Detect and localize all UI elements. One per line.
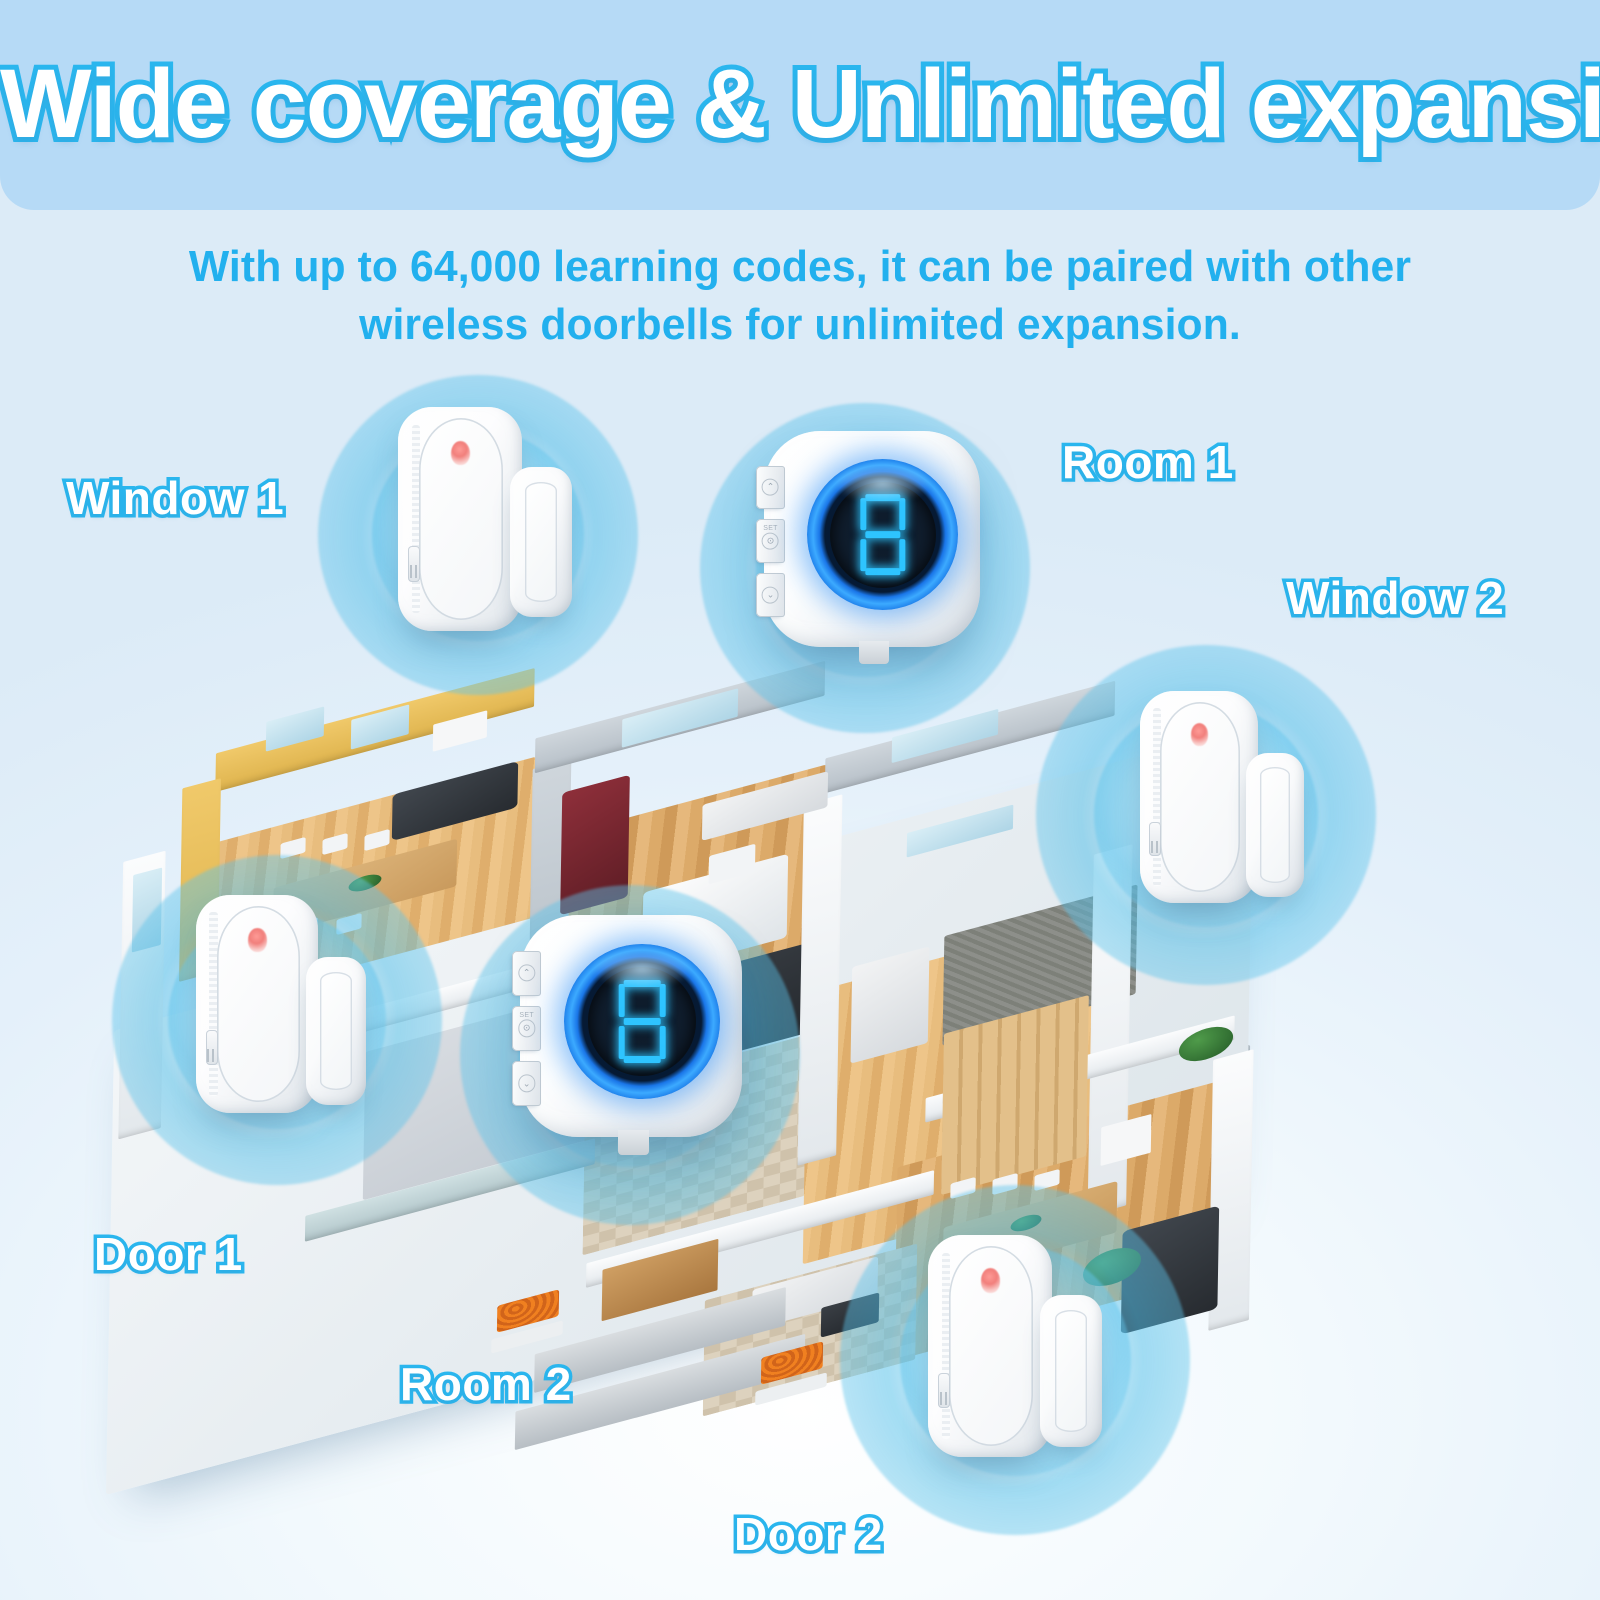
segment-c — [659, 1026, 665, 1060]
receiver-room-2[interactable]: ⌃ SET ⊙ ⌄ — [520, 915, 742, 1137]
magnet-door-1[interactable] — [306, 957, 366, 1105]
sensor-led-icon — [451, 441, 470, 466]
sensor-window-1[interactable] — [398, 407, 522, 631]
label-window-2: Window 2 — [1286, 571, 1504, 625]
volume-up-button[interactable]: ⌃ — [512, 951, 541, 996]
sensor-door-2[interactable] — [928, 1235, 1052, 1457]
chevron-up-icon: ⌃ — [518, 964, 535, 981]
segment-b — [900, 498, 906, 531]
magnet-window-2[interactable] — [1246, 753, 1304, 897]
sensor-door-1[interactable] — [196, 895, 318, 1113]
receiver-button-group: ⌃ SET ⊙ ⌄ — [756, 466, 784, 617]
set-button-label: SET — [519, 1012, 534, 1019]
segment-e — [860, 539, 866, 572]
label-window-1: Window 1 — [66, 471, 284, 525]
window-bedroom — [622, 688, 738, 747]
label-door-1: Door 1 — [94, 1227, 243, 1281]
chevron-up-icon: ⌃ — [762, 479, 779, 496]
window-exterior-left — [132, 867, 162, 952]
segment-a — [624, 980, 660, 988]
sensor-led-icon — [248, 928, 266, 952]
volume-down-button[interactable]: ⌄ — [756, 573, 784, 617]
label-door-2: Door 2 — [734, 1507, 883, 1561]
sensor-led-icon — [1191, 723, 1209, 746]
segment-a — [865, 494, 900, 501]
sensor-window-2[interactable] — [1140, 691, 1258, 903]
receiver-digit-display — [619, 980, 666, 1064]
segment-e — [619, 1026, 625, 1060]
sensor-switch[interactable] — [1149, 822, 1161, 856]
volume-down-button[interactable]: ⌄ — [512, 1061, 541, 1106]
segment-g — [624, 1018, 660, 1026]
coverage-scene: ⌃ SET ⊙ ⌄ — [0, 355, 1600, 1600]
set-button[interactable]: SET ⊙ — [512, 1006, 541, 1051]
label-room-1: Room 1 — [1062, 435, 1234, 489]
segment-b — [659, 984, 665, 1018]
label-room-2: Room 2 — [400, 1357, 572, 1411]
receiver-room-1[interactable]: ⌃ SET ⊙ ⌄ — [764, 431, 980, 647]
page-title: Wide coverage & Unlimited expansion — [0, 48, 1600, 160]
magnet-window-1[interactable] — [510, 467, 572, 617]
set-icon: ⊙ — [518, 1020, 535, 1037]
sensor-led-icon — [981, 1268, 1000, 1292]
wall-center-divider — [798, 794, 843, 1165]
receiver-glow-ring — [564, 944, 719, 1099]
segment-d — [865, 568, 900, 575]
sensor-switch[interactable] — [938, 1373, 950, 1409]
receiver-digit-display — [860, 494, 905, 576]
wardrobe-bedroom — [560, 775, 630, 916]
receiver-plug-prongs — [859, 641, 889, 665]
segment-f — [619, 984, 625, 1018]
receiver-button-group: ⌃ SET ⊙ ⌄ — [512, 951, 541, 1106]
receiver-plug-prongs — [618, 1130, 649, 1154]
sensor-switch[interactable] — [408, 546, 420, 582]
sensor-switch[interactable] — [206, 1030, 218, 1065]
segment-c — [900, 539, 906, 572]
set-button[interactable]: SET ⊙ — [756, 519, 784, 563]
receiver-glow-ring — [807, 459, 958, 610]
set-button-label: SET — [763, 525, 778, 532]
chevron-down-icon: ⌄ — [762, 586, 779, 603]
segment-f — [860, 498, 866, 531]
set-icon: ⊙ — [762, 533, 779, 550]
volume-up-button[interactable]: ⌃ — [756, 466, 784, 510]
subtitle-text: With up to 64,000 learning codes, it can… — [100, 238, 1501, 354]
infographic-page: Wide coverage & Unlimited expansion With… — [0, 0, 1600, 1600]
magnet-door-2[interactable] — [1040, 1295, 1102, 1447]
title-banner: Wide coverage & Unlimited expansion — [0, 0, 1600, 210]
segment-d — [624, 1056, 660, 1064]
segment-g — [865, 531, 900, 538]
chevron-down-icon: ⌄ — [518, 1075, 535, 1092]
